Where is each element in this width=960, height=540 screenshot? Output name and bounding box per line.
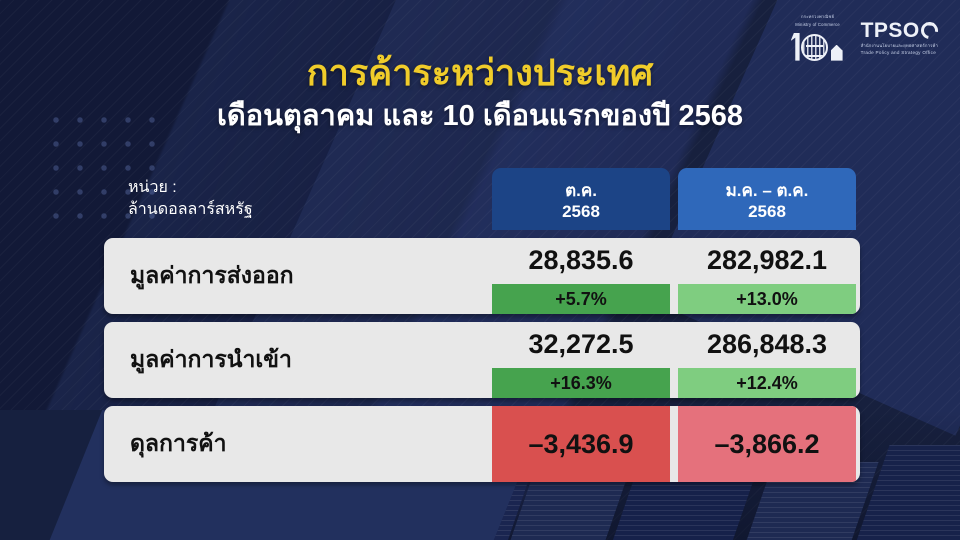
cell-import-jan-oct-value: 286,848.3 [678,322,856,368]
cell-import-oct-pct: +16.3% [492,368,670,398]
ministry-of-commerce-105-logo: กระทรวงพาณิชย์ Ministry of Commerce [791,14,845,61]
cell-import-oct: 32,272.5 +16.3% [492,322,670,398]
cell-export-jan-oct: 282,982.1 +13.0% [678,238,856,314]
digit-zero-icon [801,34,828,61]
column-header-jan-oct: ม.ค. – ต.ค. 2568 [678,168,856,230]
column-header-jan-oct-title: ม.ค. – ต.ค. [726,180,809,201]
table-header-row: หน่วย : ล้านดอลลาร์สหรัฐ ต.ค. 2568 ม.ค. … [104,168,860,230]
digit-one-icon [791,33,800,61]
unit-label-line2: ล้านดอลลาร์สหรัฐ [128,199,484,221]
unit-label-line1: หน่วย : [128,177,484,199]
tpso-subtitle-th: สำนักงานนโยบายและยุทธศาสตร์การค้า [861,42,938,49]
cell-balance-oct: –3,436.9 [492,406,670,482]
column-header-oct-title: ต.ค. [565,180,597,201]
tpso-subtitle-en: Trade Policy and Strategy Office [861,50,938,55]
column-header-jan-oct-year: 2568 [748,201,786,222]
cell-import-jan-oct: 286,848.3 +12.4% [678,322,856,398]
cell-balance-jan-oct: –3,866.2 [678,406,856,482]
table-row: ดุลการค้า –3,436.9 –3,866.2 [104,406,860,482]
page-subtitle: เดือนตุลาคม และ 10 เดือนแรกของปี 2568 [0,99,960,134]
tpso-acronym: TPSO [861,20,920,41]
row-label-export: มูลค่าการส่งออก [104,238,484,314]
tpso-swoosh-icon [917,18,941,42]
cell-export-oct: 28,835.6 +5.7% [492,238,670,314]
trade-summary-table: หน่วย : ล้านดอลลาร์สหรัฐ ต.ค. 2568 ม.ค. … [104,168,860,482]
cell-balance-jan-oct-value: –3,866.2 [678,406,856,482]
cell-import-jan-oct-pct: +12.4% [678,368,856,398]
cell-import-oct-value: 32,272.5 [492,322,670,368]
logo-105-mark [791,31,845,61]
logo-caption-en: Ministry of Commerce [795,22,840,28]
logo-caption-th: กระทรวงพาณิชย์ [801,14,834,20]
cell-export-jan-oct-value: 282,982.1 [678,238,856,284]
cell-balance-oct-value: –3,436.9 [492,406,670,482]
table-row: มูลค่าการส่งออก 28,835.6 +5.7% 282,982.1… [104,238,860,314]
logo-bar: กระทรวงพาณิชย์ Ministry of Commerce TPSO… [791,14,938,61]
row-label-balance: ดุลการค้า [104,406,484,482]
row-label-import: มูลค่าการนำเข้า [104,322,484,398]
temple-roof-icon [831,45,843,61]
tpso-wordmark: TPSO [861,20,938,41]
cell-export-oct-pct: +5.7% [492,284,670,314]
unit-label: หน่วย : ล้านดอลลาร์สหรัฐ [104,168,484,230]
column-header-oct: ต.ค. 2568 [492,168,670,230]
tpso-logo: TPSO สำนักงานนโยบายและยุทธศาสตร์การค้า T… [861,20,938,55]
column-header-oct-year: 2568 [562,201,600,222]
cell-export-oct-value: 28,835.6 [492,238,670,284]
cell-export-jan-oct-pct: +13.0% [678,284,856,314]
title-block: การค้าระหว่างประเทศ เดือนตุลาคม และ 10 เ… [0,52,960,134]
table-row: มูลค่าการนำเข้า 32,272.5 +16.3% 286,848.… [104,322,860,398]
digit-five-icon [829,33,845,61]
